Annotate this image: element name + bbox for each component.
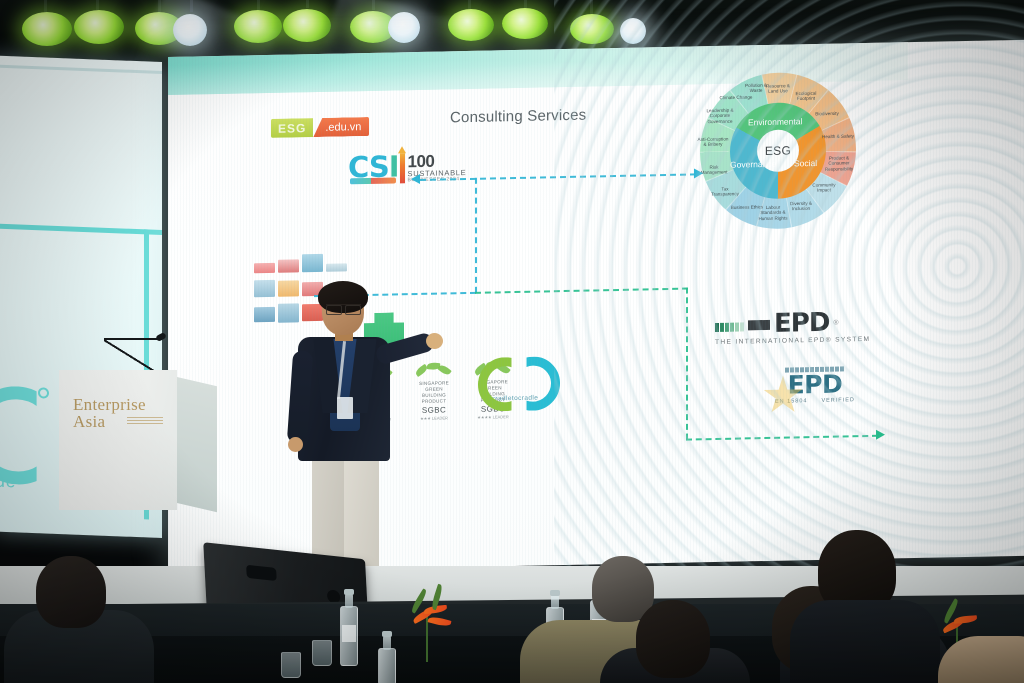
esg-outer-label: Ecological Footprint xyxy=(789,91,823,102)
esg-wheel-diagram: ESG Environmental Social Governance Reso… xyxy=(700,71,856,230)
presentation-slide: Consulting Services ESG .edu.vn CSI 100 … xyxy=(168,42,908,497)
csi-arrow-bar xyxy=(400,153,405,183)
epd-wordmark: EPD xyxy=(774,312,829,337)
industry-icon xyxy=(254,263,275,273)
epd-registered-mark: ® xyxy=(833,320,838,327)
sgbc-rating: ★★★★ LEADER xyxy=(472,414,514,420)
esg-outer-label: Leadership & Corporate Governance xyxy=(703,108,737,125)
name-badge xyxy=(337,397,353,419)
slide-title: Consulting Services xyxy=(450,107,586,127)
stage-light-green xyxy=(74,10,124,44)
epd-gradient-bars xyxy=(715,319,744,333)
stage-light-green xyxy=(570,14,614,44)
epd-verified-text: VERIFIED xyxy=(821,397,854,404)
audience-head xyxy=(36,556,106,628)
industry-icon xyxy=(278,259,299,272)
esg-outer-label: Product & Consumer Responsibility xyxy=(822,155,856,172)
badge-left-label: ESG xyxy=(271,118,313,138)
side-screen-logo-mark xyxy=(0,385,66,487)
industry-icon xyxy=(326,263,347,271)
arrow-to-esg-wheel xyxy=(694,168,703,178)
esg-segment-social: Social xyxy=(794,158,817,168)
esg-outer-label: Business Ethics xyxy=(730,204,764,210)
side-screen-logo-text: ooode xyxy=(0,470,16,492)
lectern: Enterprise Asia xyxy=(59,370,177,510)
esg-outer-label: Pollution & Waste xyxy=(739,83,773,94)
presenter-hand xyxy=(426,333,443,349)
arrow-to-epd xyxy=(876,430,885,440)
esg-outer-label: Climate Change xyxy=(719,95,753,101)
badge-right-label: .edu.vn xyxy=(313,117,369,137)
stage-light-white xyxy=(620,18,646,44)
stage-light-white xyxy=(388,12,420,43)
esg-edu-vn-badge: ESG .edu.vn xyxy=(271,117,369,138)
industry-icon xyxy=(254,280,275,297)
esg-outer-label: Tax Transparency xyxy=(708,186,742,197)
epd-international-logo: EPD ® THE INTERNATIONAL EPD® SYSTEM xyxy=(715,311,870,346)
audience-head xyxy=(636,600,710,678)
epd-block xyxy=(748,320,770,330)
arrow-to-csi xyxy=(411,174,420,184)
lectern-brand-line2: Asia xyxy=(73,413,105,430)
esg-outer-label: Anti-Corruption & Bribery xyxy=(696,136,730,147)
drinking-glass xyxy=(312,640,332,666)
water-bottle xyxy=(340,606,358,666)
industry-icon xyxy=(254,307,275,322)
esg-segment-environmental: Environmental xyxy=(748,116,802,127)
lectern-brand-rules xyxy=(127,417,163,426)
water-bottle xyxy=(378,648,396,683)
epd-verified-logo: EPD EN 15804 VERIFIED xyxy=(775,366,855,404)
esg-outer-label: Community Impact xyxy=(807,182,841,193)
drinking-glass xyxy=(281,652,301,678)
esg-outer-label: Health & Safety xyxy=(821,134,855,140)
conference-stage-photo: ooode Consulting Services ESG .edu.vn CS… xyxy=(0,0,1024,683)
stage-light-white xyxy=(173,14,207,46)
glasses-icon xyxy=(326,304,361,314)
stage-light-green xyxy=(234,10,282,43)
stage-light-green xyxy=(283,9,331,42)
audience-shoulders xyxy=(790,600,940,683)
industry-icon xyxy=(302,254,323,272)
cradle-to-cradle-logo: cradletocradle xyxy=(478,354,552,402)
esg-outer-label: Biodiversity xyxy=(810,111,844,117)
csi-swoosh xyxy=(350,177,396,184)
stage-light-green xyxy=(448,9,494,41)
stage-light-green xyxy=(502,8,548,39)
stage-light-green xyxy=(22,12,72,46)
side-screen-logo-dot xyxy=(38,387,49,398)
presenter xyxy=(282,285,432,590)
flower-arrangement xyxy=(398,592,468,662)
esg-segment-governance: Governance xyxy=(730,159,776,170)
